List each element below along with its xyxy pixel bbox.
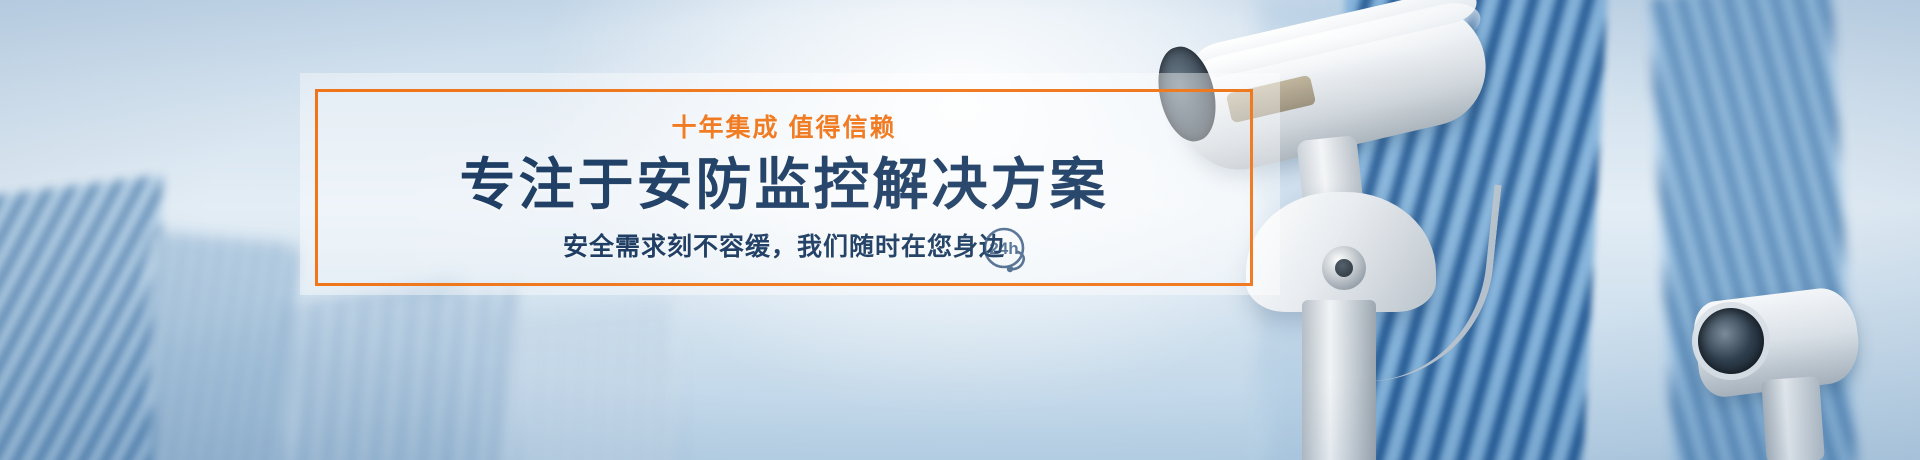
camera-pivot-center — [1335, 259, 1353, 277]
camera2-mount — [1761, 376, 1825, 460]
building-left-a — [0, 174, 162, 460]
camera-pole — [1302, 300, 1376, 460]
building-left-b — [145, 230, 304, 460]
hero-banner: 十年集成 值得信赖 专注于安防监控解决方案 安全需求刻不容缓，我们随时在您身边 … — [0, 0, 1920, 460]
banner-subline: 安全需求刻不容缓，我们随时在您身边 — [563, 235, 1005, 260]
support-24h-badge: 24h — [978, 222, 1034, 278]
banner-tagline: 十年集成 值得信赖 — [672, 116, 897, 141]
cctv-camera-secondary — [1690, 282, 1910, 460]
building-left-c — [288, 286, 518, 460]
banner-text-block: 十年集成 值得信赖 专注于安防监控解决方案 安全需求刻不容缓，我们随时在您身边 — [315, 89, 1253, 286]
support-24h-label: 24h — [989, 239, 1018, 258]
building-mid — [499, 297, 679, 460]
banner-headline: 专注于安防监控解决方案 — [460, 157, 1109, 213]
